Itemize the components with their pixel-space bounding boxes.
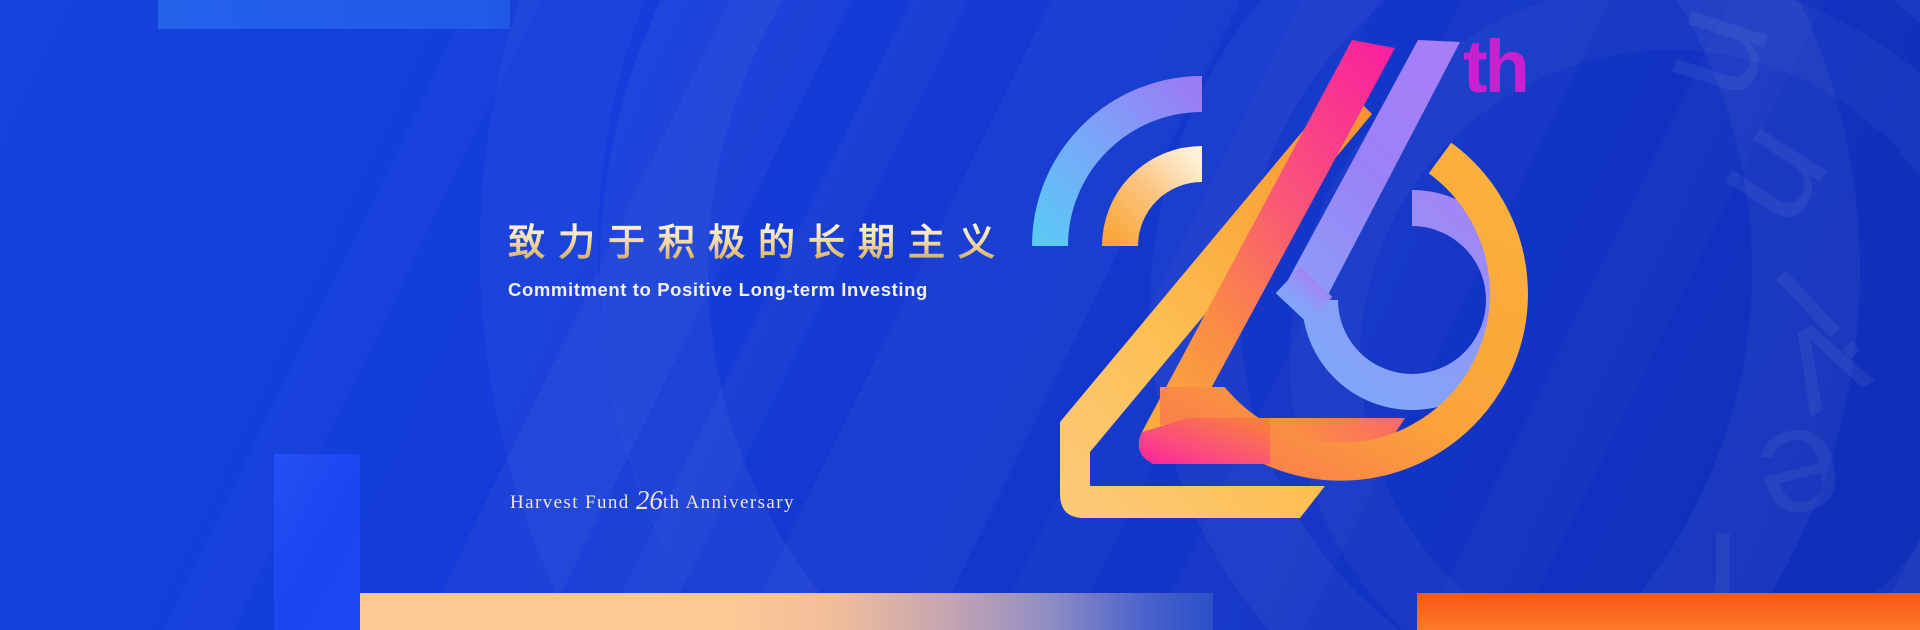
anniversary-banner: n n i v e r 致力于积极的长期主义 Commitment to Pos… [0,0,1920,630]
signature-line: Harvest Fund 26th Anniversary [510,485,795,516]
watermark-letter-v: v [1760,291,1898,459]
signature-number: 26 [636,485,663,515]
bottom-orange-bar [1417,593,1920,630]
signature-suffix: th Anniversary [663,492,795,513]
signature-prefix: Harvest Fund [510,492,636,513]
watermark-letter-e: e [1743,400,1860,566]
left-accent-pillar [274,454,360,630]
top-accent-bar [158,0,510,29]
background-stripe-2 [452,0,1086,630]
watermark-letter-i: i [1753,247,1880,379]
headline-english: Commitment to Positive Long-term Investi… [508,279,1008,301]
headline-block: 致力于积极的长期主义 Commitment to Positive Long-t… [508,222,1008,301]
anniversary-logo: th [1020,18,1530,538]
logo-artwork [1020,18,1530,538]
background-stripe-1 [272,0,968,630]
logo-ordinal-th: th [1463,30,1527,104]
watermark-letter-n-1: n [1647,0,1815,120]
bottom-gradient-bar [360,593,1213,630]
watermark-letter-n-2: n [1701,107,1872,259]
headline-chinese: 致力于积极的长期主义 [508,222,1008,266]
